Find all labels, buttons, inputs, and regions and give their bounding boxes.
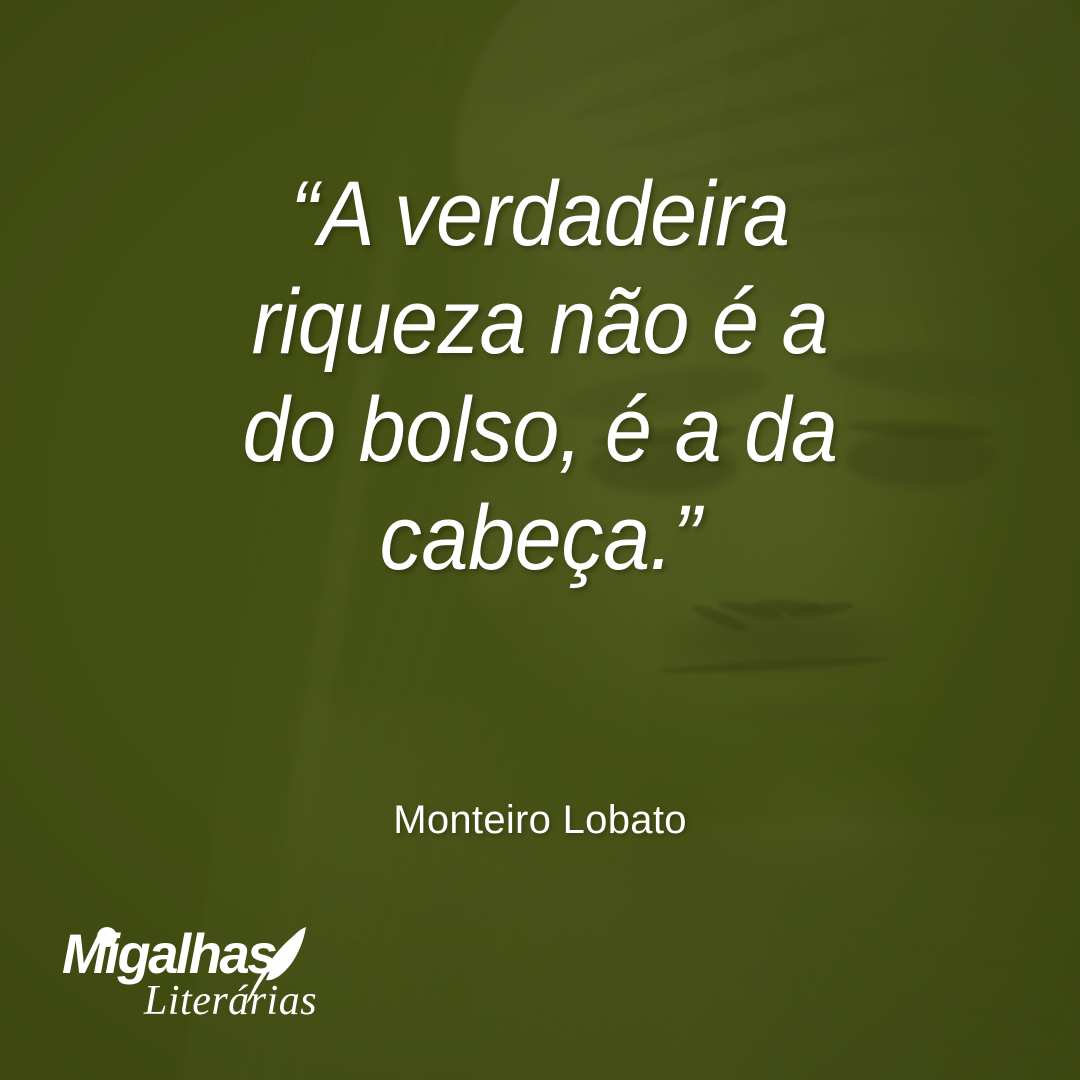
quote-line: cabeça.”	[98, 484, 981, 592]
quote-text-block: “A verdadeira riqueza não é a do bolso, …	[60, 160, 1020, 592]
quote-author: Monteiro Lobato	[0, 798, 1080, 843]
card-content: “A verdadeira riqueza não é a do bolso, …	[0, 0, 1080, 1080]
quote-line: “A verdadeira	[98, 160, 981, 268]
quill-feather-icon	[240, 923, 312, 1005]
quote-line: riqueza não é a	[98, 268, 981, 376]
quote-line: do bolso, é a da	[98, 376, 981, 484]
migalhas-literarias-logo[interactable]: Migalhas Literárias	[62, 925, 362, 1025]
logo-i-dot	[97, 927, 117, 947]
quote-card: “A verdadeira riqueza não é a do bolso, …	[0, 0, 1080, 1080]
